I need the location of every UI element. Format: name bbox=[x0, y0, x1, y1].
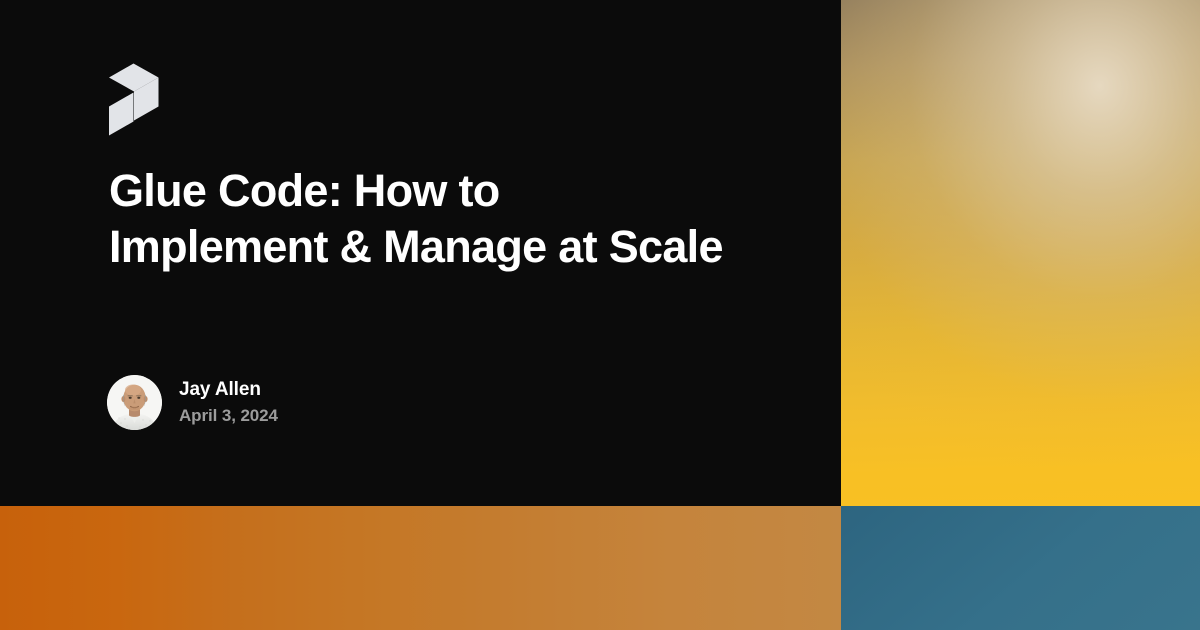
page-title: Glue Code: How to Implement & Manage at … bbox=[109, 163, 729, 275]
byline-text: Jay Allen April 3, 2024 bbox=[179, 379, 278, 426]
author-name[interactable]: Jay Allen bbox=[179, 379, 278, 401]
gold-gradient-panel bbox=[841, 0, 1200, 506]
orange-gradient-band bbox=[0, 506, 841, 630]
teal-color-block bbox=[841, 506, 1200, 630]
byline: Jay Allen April 3, 2024 bbox=[107, 375, 278, 430]
prefect-p-logo-icon[interactable] bbox=[108, 60, 160, 140]
social-share-card: Glue Code: How to Implement & Manage at … bbox=[0, 0, 1200, 630]
publish-date: April 3, 2024 bbox=[179, 405, 278, 426]
avatar bbox=[107, 375, 162, 430]
card-content: Glue Code: How to Implement & Manage at … bbox=[0, 0, 841, 506]
